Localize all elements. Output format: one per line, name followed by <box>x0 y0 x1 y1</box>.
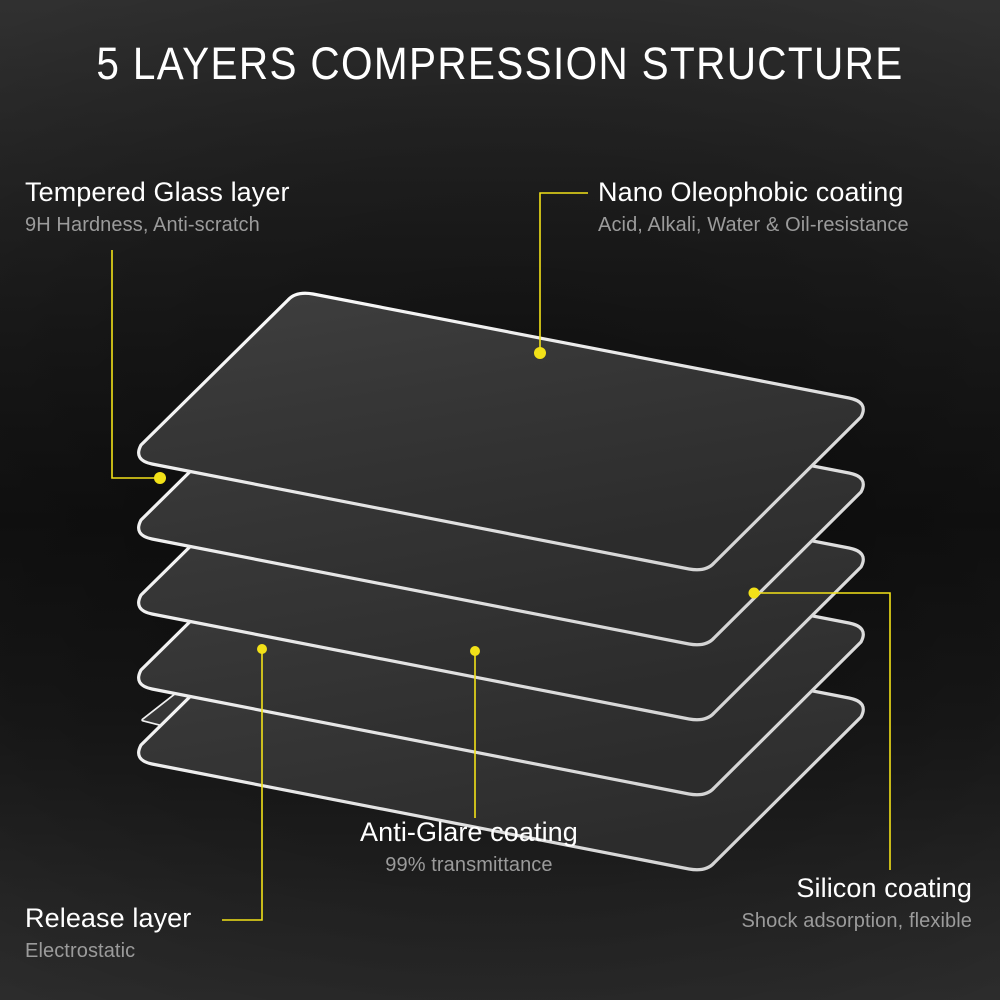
callout-title: Tempered Glass layer <box>25 176 290 208</box>
callout-nano-oleophobic-coating: Nano Oleophobic coating Acid, Alkali, Wa… <box>598 176 909 238</box>
infographic-canvas: 5 LAYERS COMPRESSION STRUCTURE <box>0 0 1000 1000</box>
marker-silicon <box>749 588 760 599</box>
callout-release-layer: Release layer Electrostatic <box>25 902 191 964</box>
callout-tempered-glass-layer: Tempered Glass layer 9H Hardness, Anti-s… <box>25 176 290 238</box>
callout-subtitle: Acid, Alkali, Water & Oil-resistance <box>598 212 909 238</box>
callout-title: Nano Oleophobic coating <box>598 176 909 208</box>
leader-nano-oleophobic <box>540 193 588 351</box>
marker-nano-oleophobic <box>534 347 546 359</box>
marker-release <box>257 644 267 654</box>
callout-title: Anti-Glare coating <box>360 816 578 848</box>
callout-silicon-coating: Silicon coating Shock adsorption, flexib… <box>741 872 972 934</box>
callout-anti-glare-coating: Anti-Glare coating 99% transmittance <box>360 816 578 878</box>
callout-subtitle: 99% transmittance <box>360 852 578 878</box>
callout-subtitle: Electrostatic <box>25 938 191 964</box>
callout-title: Silicon coating <box>741 872 972 904</box>
callout-subtitle: 9H Hardness, Anti-scratch <box>25 212 290 238</box>
marker-tempered-glass <box>154 472 166 484</box>
callout-subtitle: Shock adsorption, flexible <box>741 908 972 934</box>
marker-anti-glare <box>470 646 480 656</box>
callout-title: Release layer <box>25 902 191 934</box>
